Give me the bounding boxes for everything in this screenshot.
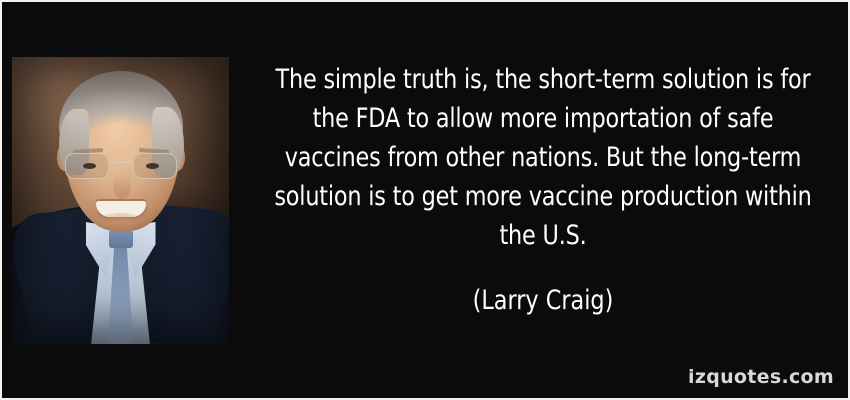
portrait-chin	[91, 213, 151, 237]
portrait-nose	[113, 173, 131, 199]
quote-attribution: (Larry Craig)	[270, 284, 816, 318]
eyeglass-bridge	[110, 161, 132, 163]
quote-line: The simple truth is, the short-term solu…	[270, 60, 816, 99]
quote-line: the FDA to allow more importation of saf…	[270, 99, 816, 138]
eyeglass-lens-right	[133, 153, 177, 179]
quote-line: the U.S.	[270, 216, 816, 255]
quote-line: vaccines from other nations. But the lon…	[270, 138, 816, 177]
quote-line: solution is to get more vaccine producti…	[270, 177, 816, 216]
quote-card: The simple truth is, the short-term solu…	[0, 0, 850, 400]
site-watermark: izquotes.com	[688, 366, 834, 388]
author-portrait-photo	[12, 57, 229, 344]
eyeglass-lens-left	[65, 153, 109, 179]
quote-text: The simple truth is, the short-term solu…	[246, 60, 840, 255]
